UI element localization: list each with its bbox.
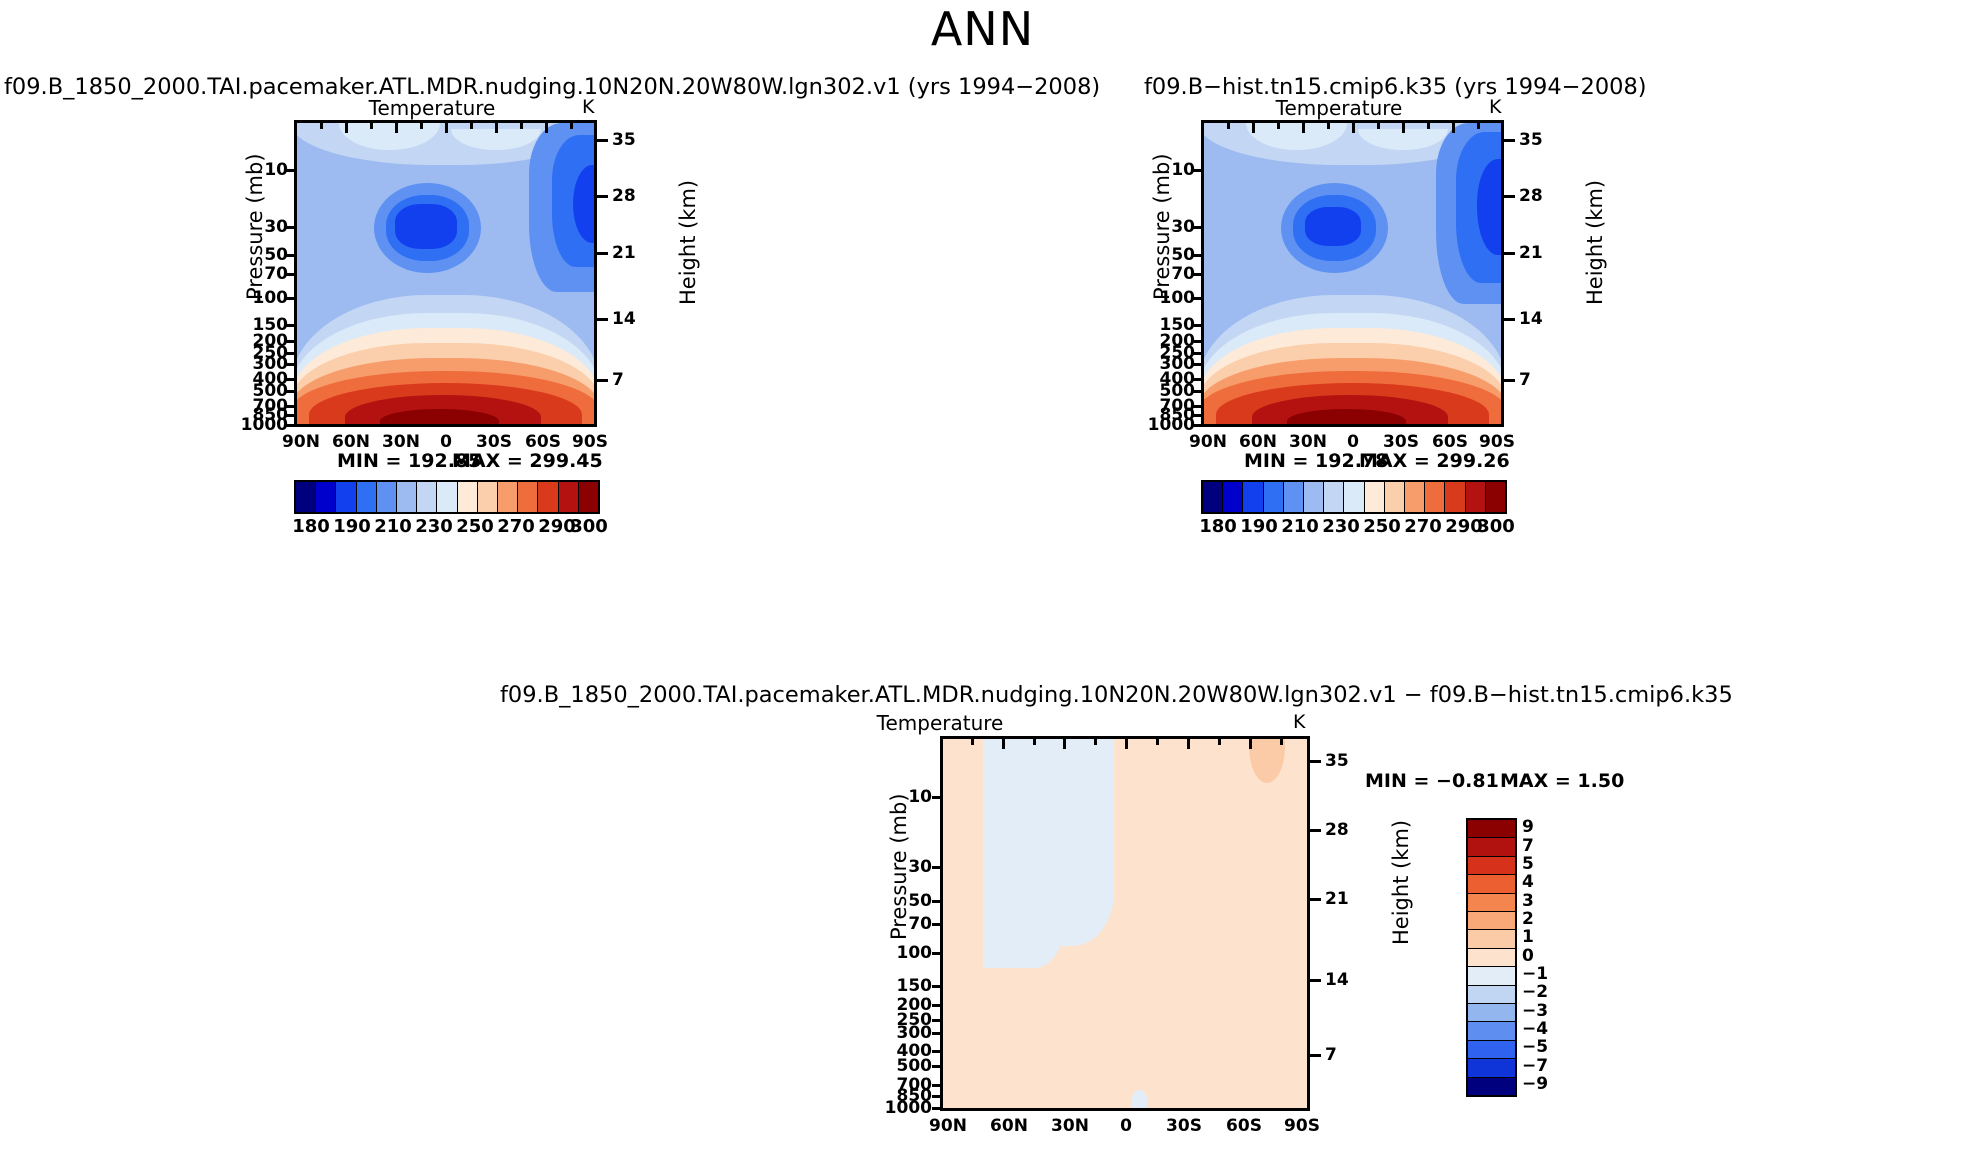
colorbar-swatch xyxy=(1466,482,1486,512)
left-panel-title: f09.B_1850_2000.TAI.pacemaker.ATL.MDR.nu… xyxy=(4,74,1100,100)
colorbar-swatch xyxy=(1486,482,1505,512)
left-max-label: MAX = 299.45 xyxy=(452,450,603,472)
left-unit-label: K xyxy=(582,96,594,118)
diff-colorbar-swatch xyxy=(1468,838,1515,856)
right-max-label: MAX = 299.26 xyxy=(1359,450,1510,472)
right-temperature-colorbar[interactable] xyxy=(1201,480,1507,514)
right-contour-field xyxy=(1204,123,1501,424)
diff-colorbar-swatch xyxy=(1468,857,1515,875)
colorbar-swatch xyxy=(458,482,478,512)
diff-panel-title: f09.B_1850_2000.TAI.pacemaker.ATL.MDR.nu… xyxy=(500,682,1733,708)
left-pressure-axis-title: Pressure (mb) xyxy=(243,153,267,300)
colorbar-swatch xyxy=(1385,482,1405,512)
diff-colorbar-label: −5 xyxy=(1522,1037,1548,1057)
diff-colorbar-label: 5 xyxy=(1522,854,1534,874)
colorbar-swatch xyxy=(377,482,397,512)
diff-colorbar-swatch xyxy=(1468,1078,1515,1095)
colorbar-swatch xyxy=(1264,482,1284,512)
diff-colorbar-label: −3 xyxy=(1522,1001,1548,1021)
diff-colorbar-swatch xyxy=(1468,875,1515,893)
diff-colorbar-swatch xyxy=(1468,1022,1515,1040)
colorbar-swatch xyxy=(518,482,538,512)
diff-colorbar-label: −9 xyxy=(1522,1074,1548,1094)
right-variable-label: Temperature xyxy=(1276,96,1403,120)
diff-colorbar-label: −2 xyxy=(1522,982,1548,1002)
diff-colorbar-label: −4 xyxy=(1522,1019,1548,1039)
diff-height-axis-title: Height (km) xyxy=(1389,820,1413,945)
colorbar-swatch xyxy=(478,482,498,512)
diff-colorbar-label: 2 xyxy=(1522,909,1534,929)
colorbar-swatch xyxy=(437,482,457,512)
colorbar-swatch xyxy=(1445,482,1465,512)
colorbar-swatch xyxy=(1344,482,1364,512)
right-pressure-axis-title: Pressure (mb) xyxy=(1150,153,1174,300)
diff-colorbar-label: 4 xyxy=(1522,872,1534,892)
diff-colorbar-label: 9 xyxy=(1522,817,1534,837)
diff-colorbar-swatch xyxy=(1468,986,1515,1004)
colorbar-swatch xyxy=(1324,482,1344,512)
left-temperature-colorbar[interactable] xyxy=(294,480,600,514)
colorbar-swatch xyxy=(498,482,518,512)
colorbar-swatch xyxy=(1243,482,1263,512)
page-title: ANN xyxy=(0,2,1965,56)
colorbar-swatch xyxy=(357,482,377,512)
colorbar-swatch xyxy=(1284,482,1304,512)
colorbar-swatch xyxy=(1365,482,1385,512)
colorbar-swatch xyxy=(336,482,356,512)
diff-colorbar-swatch xyxy=(1468,1041,1515,1059)
diff-colorbar-swatch xyxy=(1468,1059,1515,1077)
colorbar-swatch xyxy=(1203,482,1223,512)
colorbar-swatch xyxy=(1304,482,1324,512)
colorbar-swatch xyxy=(316,482,336,512)
diff-max-label: MAX = 1.50 xyxy=(1500,770,1624,792)
colorbar-swatch xyxy=(1405,482,1425,512)
diff-colorbar-label: 7 xyxy=(1522,836,1534,856)
colorbar-swatch xyxy=(559,482,579,512)
left-height-axis-title: Height (km) xyxy=(676,180,700,305)
colorbar-swatch xyxy=(579,482,598,512)
right-unit-label: K xyxy=(1489,96,1501,118)
right-height-axis-title: Height (km) xyxy=(1583,180,1607,305)
diff-colorbar-swatch xyxy=(1468,1004,1515,1022)
diff-colorbar-label: −1 xyxy=(1522,964,1548,984)
diff-colorbar-label: −7 xyxy=(1522,1056,1548,1076)
diff-colorbar-label: 1 xyxy=(1522,927,1534,947)
diff-colorbar-swatch xyxy=(1468,894,1515,912)
diff-variable-label: Temperature xyxy=(877,711,1004,735)
colorbar-swatch xyxy=(538,482,558,512)
diff-colorbar-swatch xyxy=(1468,949,1515,967)
diff-contour-field xyxy=(943,739,1307,1108)
colorbar-swatch xyxy=(397,482,417,512)
diff-min-label: MIN = −0.81 xyxy=(1365,770,1499,792)
colorbar-swatch xyxy=(296,482,316,512)
colorbar-swatch xyxy=(1223,482,1243,512)
left-variable-label: Temperature xyxy=(369,96,496,120)
diff-colorbar-swatch xyxy=(1468,820,1515,838)
diff-colorbar-label: 0 xyxy=(1522,946,1534,966)
colorbar-swatch xyxy=(417,482,437,512)
right-contour-plot[interactable] xyxy=(1201,120,1504,427)
diff-pressure-axis-title: Pressure (mb) xyxy=(887,793,911,940)
diff-colorbar-swatch xyxy=(1468,930,1515,948)
colorbar-swatch xyxy=(1425,482,1445,512)
left-contour-field xyxy=(297,123,594,424)
diff-unit-label: K xyxy=(1293,711,1305,733)
diff-colorbar-swatch xyxy=(1468,912,1515,930)
diff-colorbar-swatch xyxy=(1468,967,1515,985)
diff-colorbar-label: 3 xyxy=(1522,891,1534,911)
left-contour-plot[interactable] xyxy=(294,120,597,427)
diff-colorbar[interactable] xyxy=(1466,818,1517,1097)
diff-contour-plot[interactable] xyxy=(940,736,1310,1111)
